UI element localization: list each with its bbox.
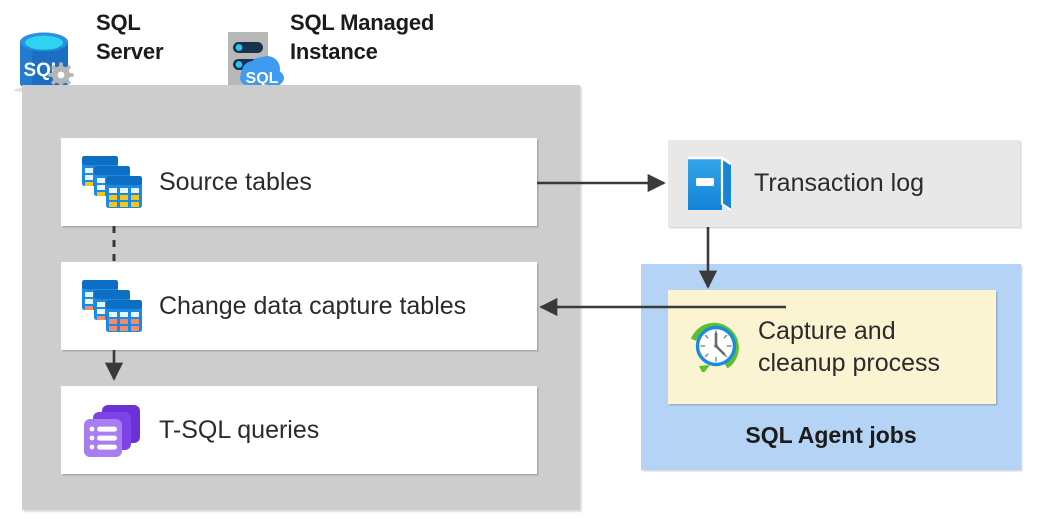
capture-cleanup-process-card[interactable]: Capture and cleanup process <box>668 290 996 404</box>
table-stack-yellow-icon <box>79 153 145 211</box>
diagram-canvas: SQL SQL Server <box>0 0 1044 527</box>
source-tables-card[interactable]: Source tables <box>61 138 537 226</box>
cdc-tables-card[interactable]: Change data capture tables <box>61 262 537 350</box>
transaction-log-card[interactable]: Transaction log <box>668 140 1020 227</box>
tsql-queries-label: T-SQL queries <box>159 416 319 445</box>
source-tables-label: Source tables <box>159 168 312 197</box>
capture-cleanup-process-label: Capture and cleanup process <box>758 315 940 380</box>
book-icon <box>684 155 738 213</box>
cdc-tables-label: Change data capture tables <box>159 292 466 321</box>
table-stack-salmon-icon <box>79 277 145 335</box>
tsql-queries-card[interactable]: T-SQL queries <box>61 386 537 474</box>
query-stack-icon <box>79 401 145 459</box>
clock-refresh-icon <box>690 322 740 372</box>
sql-server-title: SQL Server <box>96 8 163 66</box>
sql-agent-jobs-label: SQL Agent jobs <box>641 422 1021 449</box>
transaction-log-label: Transaction log <box>754 169 924 198</box>
sql-managed-instance-title: SQL Managed Instance <box>290 8 434 66</box>
